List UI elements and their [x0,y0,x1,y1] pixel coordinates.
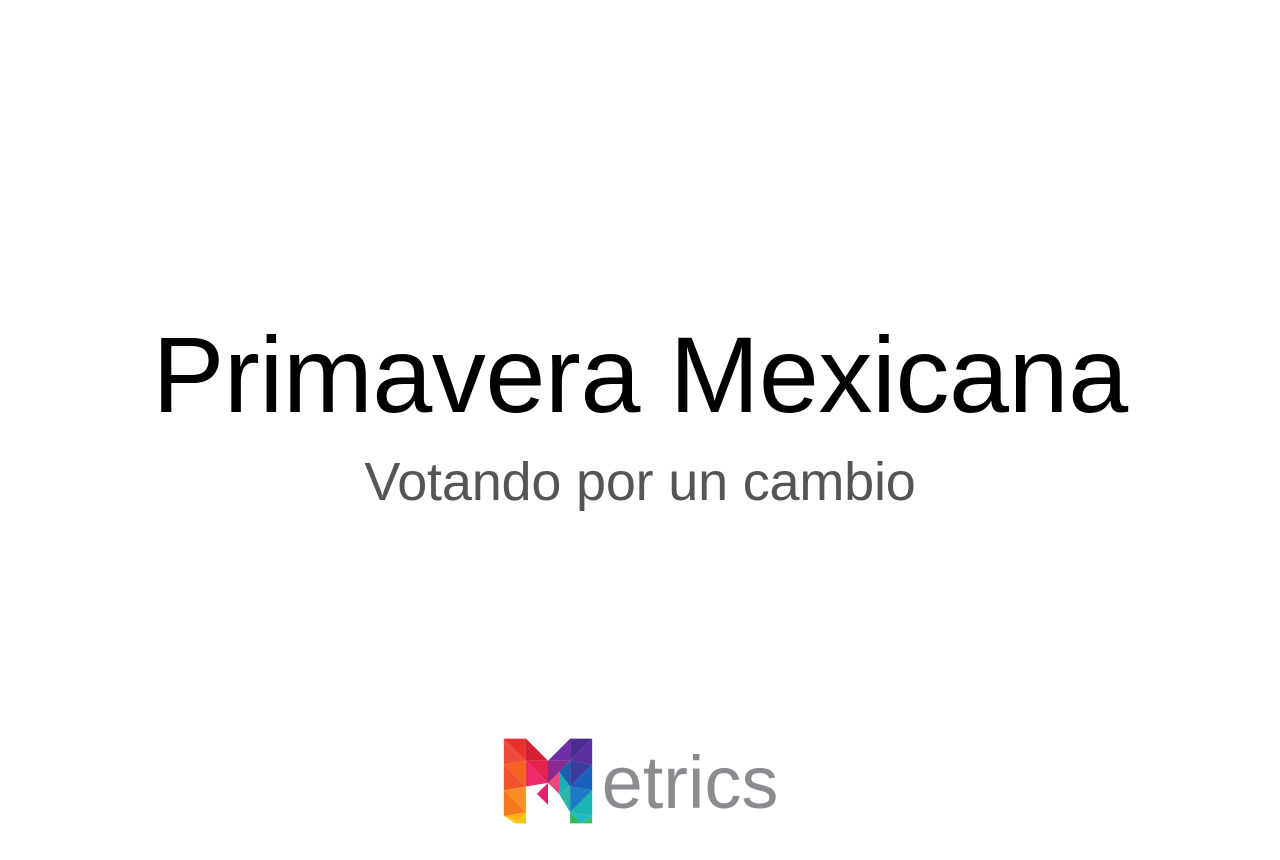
slide-canvas: Primavera Mexicana Votando por un cambio [0,0,1280,860]
brand-logo: etrics [0,726,1280,836]
metrics-m-logo-icon [502,735,594,827]
page-title: Primavera Mexicana [0,318,1280,431]
page-subtitle: Votando por un cambio [0,453,1280,512]
title-block: Primavera Mexicana Votando por un cambio [0,318,1280,513]
logo-wordmark: etrics [602,746,779,820]
